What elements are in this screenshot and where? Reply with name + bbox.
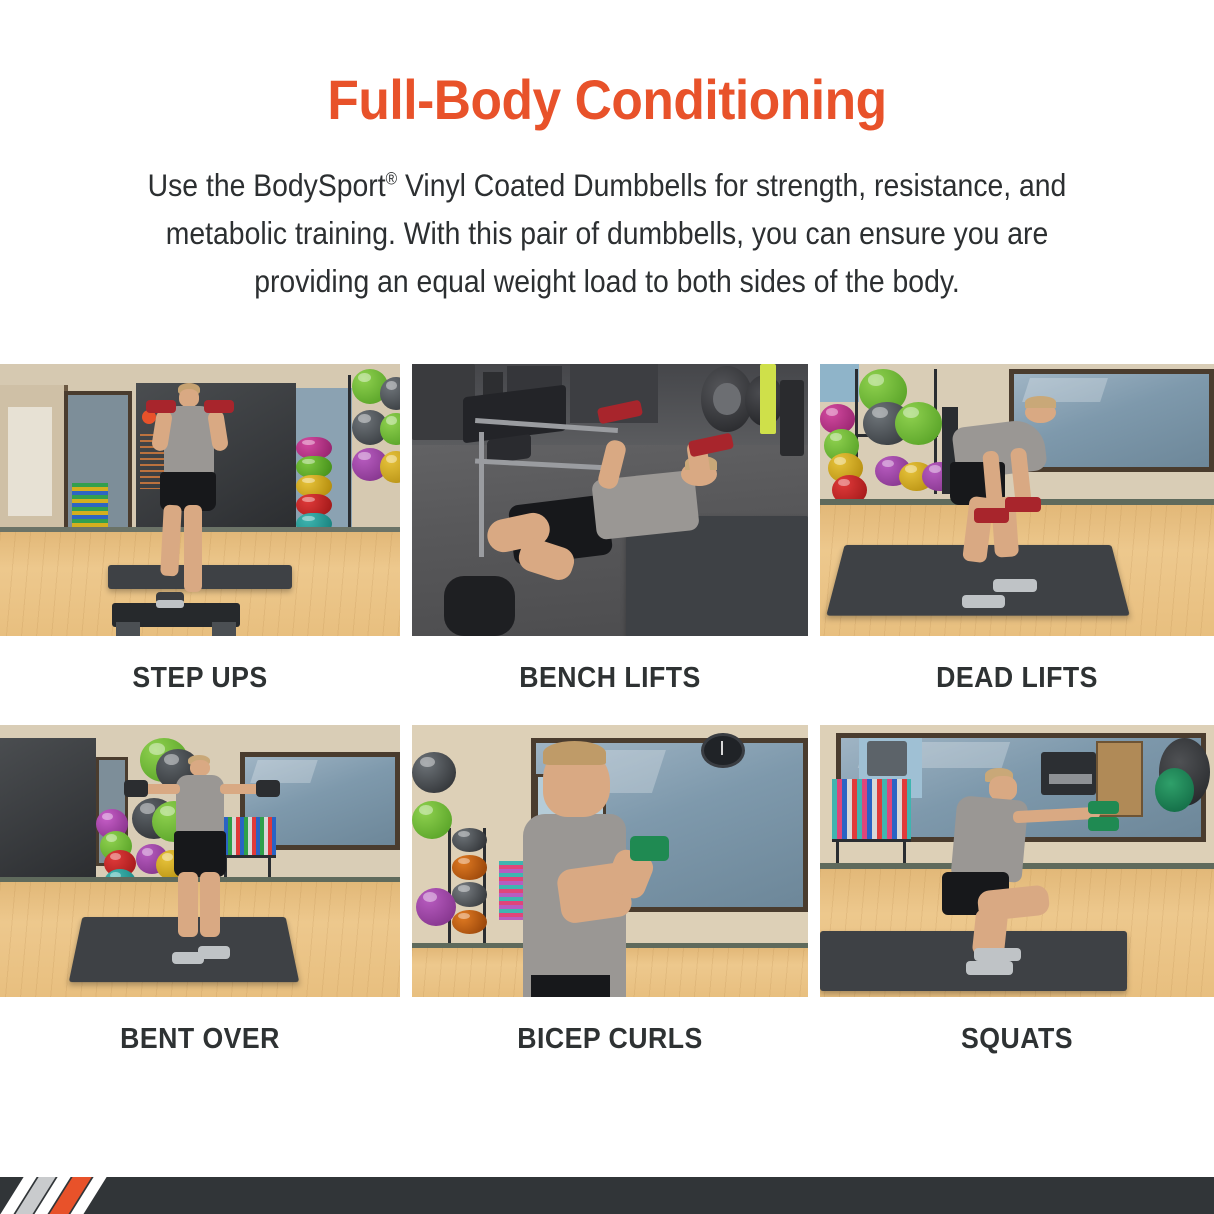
exercise-photo-bench-lifts [412, 364, 808, 636]
exercise-photo-squats [820, 725, 1214, 997]
exercise-photo-dead-lifts [820, 364, 1214, 636]
exercise-caption-bench-lifts: BENCH LIFTS [428, 636, 792, 725]
intro-paragraph: Use the BodySport® Vinyl Coated Dumbbell… [130, 162, 1084, 306]
exercise-caption-squats: SQUATS [836, 997, 1198, 1086]
exercise-grid: STEP UPS [0, 364, 1214, 1086]
exercise-card-step-ups: STEP UPS [0, 364, 400, 725]
exercise-card-dead-lifts: DEAD LIFTS [820, 364, 1214, 725]
exercise-card-bicep-curls: BICEP CURLS [412, 725, 808, 1086]
poster-page: Full-Body Conditioning Use the BodySport… [0, 0, 1214, 1214]
exercise-caption-bent-over: BENT OVER [16, 997, 384, 1086]
page-title: Full-Body Conditioning [104, 72, 1110, 128]
footer-bar [0, 1177, 1214, 1214]
exercise-photo-bent-over [0, 725, 400, 997]
exercise-caption-bicep-curls: BICEP CURLS [428, 997, 792, 1086]
exercise-card-bench-lifts: BENCH LIFTS [412, 364, 808, 725]
registered-mark: ® [386, 169, 397, 189]
exercise-card-bent-over: BENT OVER [0, 725, 400, 1086]
header: Full-Body Conditioning Use the BodySport… [0, 0, 1214, 306]
exercise-caption-dead-lifts: DEAD LIFTS [836, 636, 1198, 725]
exercise-photo-step-ups [0, 364, 400, 636]
intro-text-before: Use the BodySport [148, 167, 386, 203]
exercise-photo-bicep-curls [412, 725, 808, 997]
exercise-card-squats: SQUATS [820, 725, 1214, 1086]
exercise-caption-step-ups: STEP UPS [16, 636, 384, 725]
